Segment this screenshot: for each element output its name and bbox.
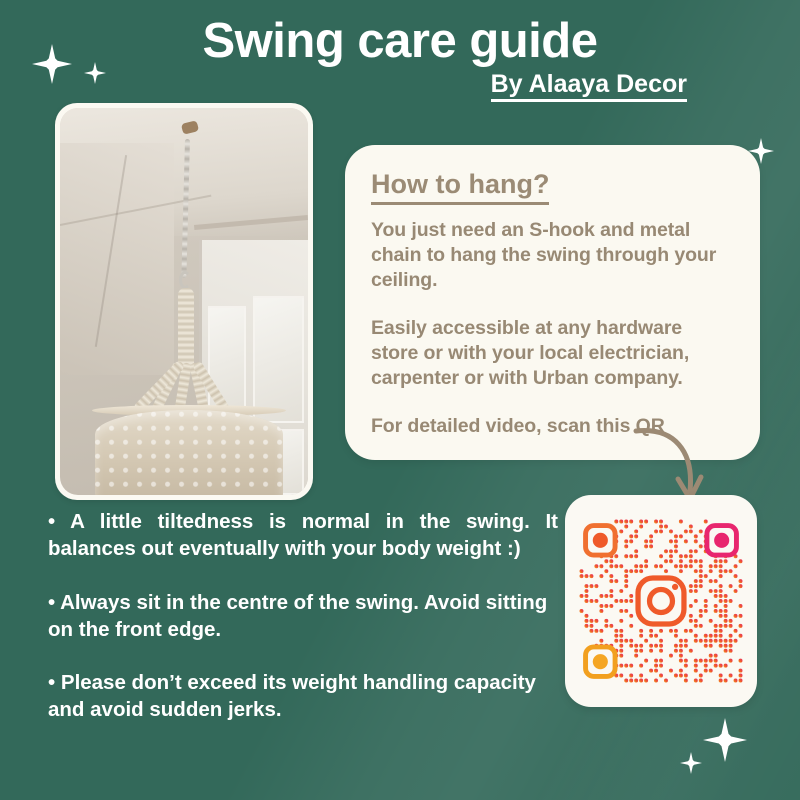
sparkle-bottom-right-small [680,752,702,774]
how-to-hang-card: How to hang? You just need an S-hook and… [345,145,760,460]
instagram-qr-card[interactable] [565,495,757,707]
sparkle-bottom-right-large [703,718,747,762]
swing-photo-frame [55,103,313,500]
page-title: Swing care guide [0,16,800,67]
list-item: • Always sit in the centre of the swing.… [48,589,558,644]
qr-finder-top-right [707,526,737,556]
bullet-marker: • [48,510,55,533]
bullet-lead: Please don’t exceed its weight handling [61,671,448,694]
photo-wall-corner [60,143,174,375]
card-paragraph-2: Easily accessible at any hardware store … [371,316,734,391]
card-paragraph-3: For detailed video, scan this QR [371,414,734,439]
qr-finder-top-left [586,526,616,556]
title-block: Swing care guide By Alaaya Decor [0,16,800,102]
bullet-lead: A little tiltedness is normal in the swi… [70,510,530,533]
qr-dots [579,509,743,693]
byline: By Alaaya Decor [491,71,687,103]
card-paragraph-1: You just need an S-hook and metal chain … [371,218,734,293]
swing-photo [60,108,308,495]
care-tips-list: • A little tiltedness is normal in the s… [48,508,558,724]
instagram-icon [638,578,684,624]
byline-row: By Alaaya Decor [0,71,800,103]
instagram-qr-code[interactable] [579,509,743,693]
card-heading: How to hang? [371,169,549,205]
bullet-lead: Always sit in the centre of the swing. [60,591,419,614]
bullet-marker: • [48,671,55,694]
photo-macrame-rope [178,288,194,373]
list-item: • Please don’t exceed its weight handlin… [48,669,558,724]
photo-swing-basket [95,410,283,495]
poster-canvas: Swing care guide By Alaaya Decor [0,0,800,800]
photo-s-hook [179,271,191,289]
photo-window-pane-right [253,296,304,424]
qr-finder-bottom-left [586,647,616,677]
bullet-marker: • [48,591,55,614]
list-item: • A little tiltedness is normal in the s… [48,508,558,563]
